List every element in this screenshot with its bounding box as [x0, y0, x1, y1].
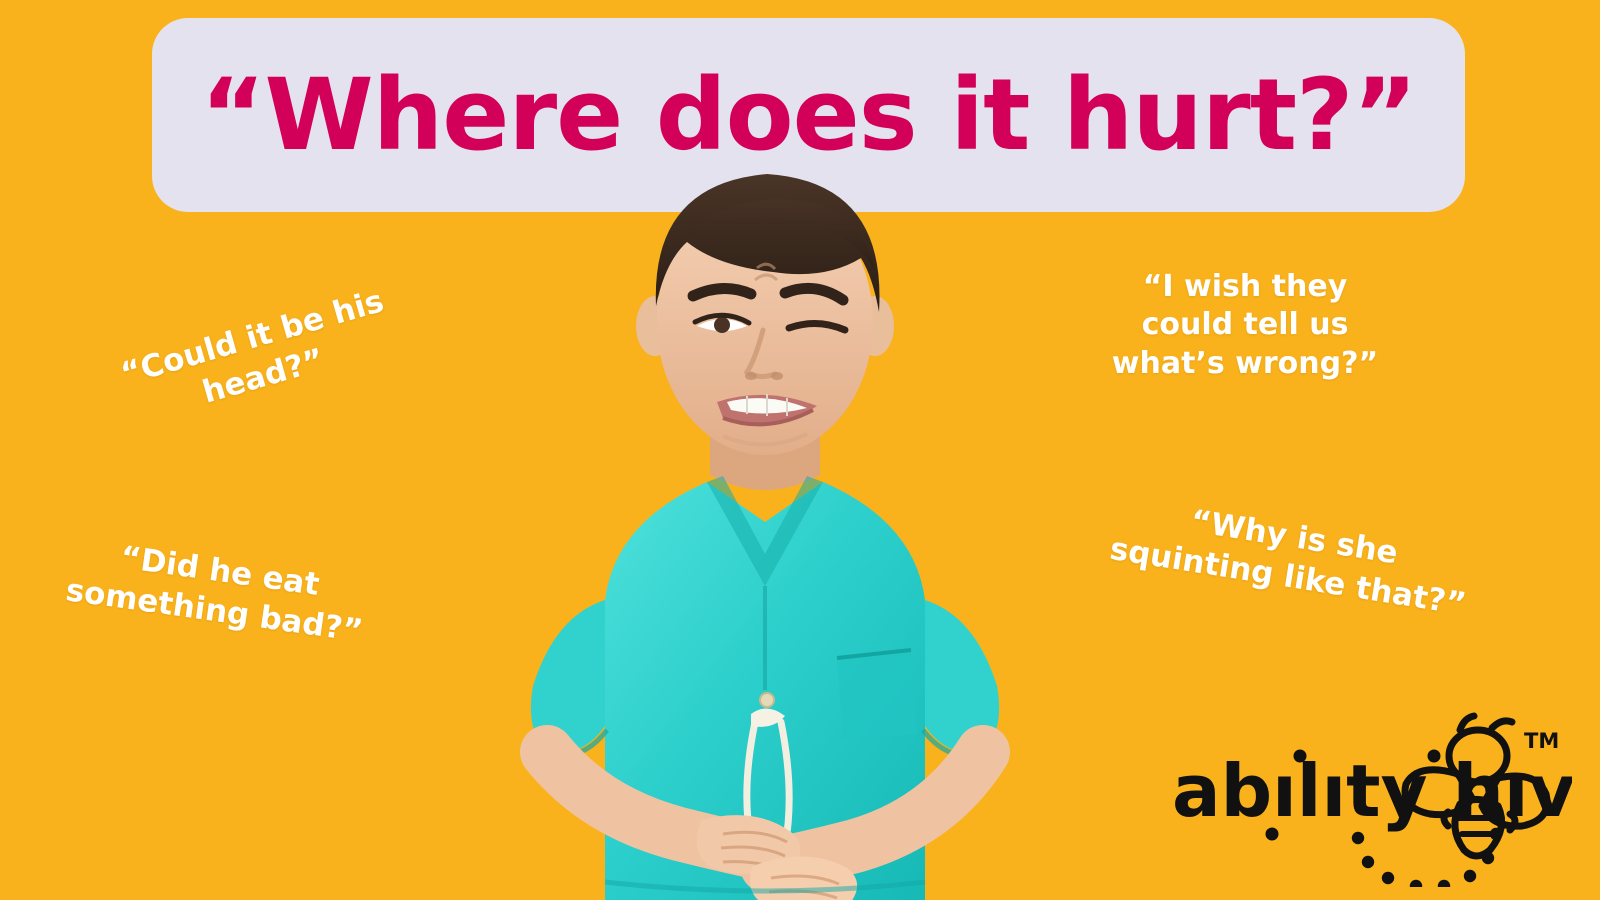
boy-photo: [455, 130, 1075, 900]
logo-dot-upper: [1294, 750, 1307, 763]
quote-i-wish-they-could-tell-us: “I wish they could tell us what’s wrong?…: [1095, 268, 1395, 383]
quote-did-he-eat-something-bad: “Did he eat something bad?”: [58, 531, 376, 653]
logo-dot-lower: [1266, 828, 1279, 841]
brand-logo[interactable]: abılıty hıve: [1172, 712, 1572, 887]
quote-why-is-she-squinting: “Why is she squinting like that?”: [1101, 489, 1481, 626]
poster-canvas: “Where does it hurt?”: [0, 0, 1600, 900]
logo-dot-hive: [1428, 750, 1441, 763]
trademark-mark: TM: [1524, 729, 1559, 753]
quote-could-it-be-his-head: “Could it be his head?”: [103, 278, 413, 437]
